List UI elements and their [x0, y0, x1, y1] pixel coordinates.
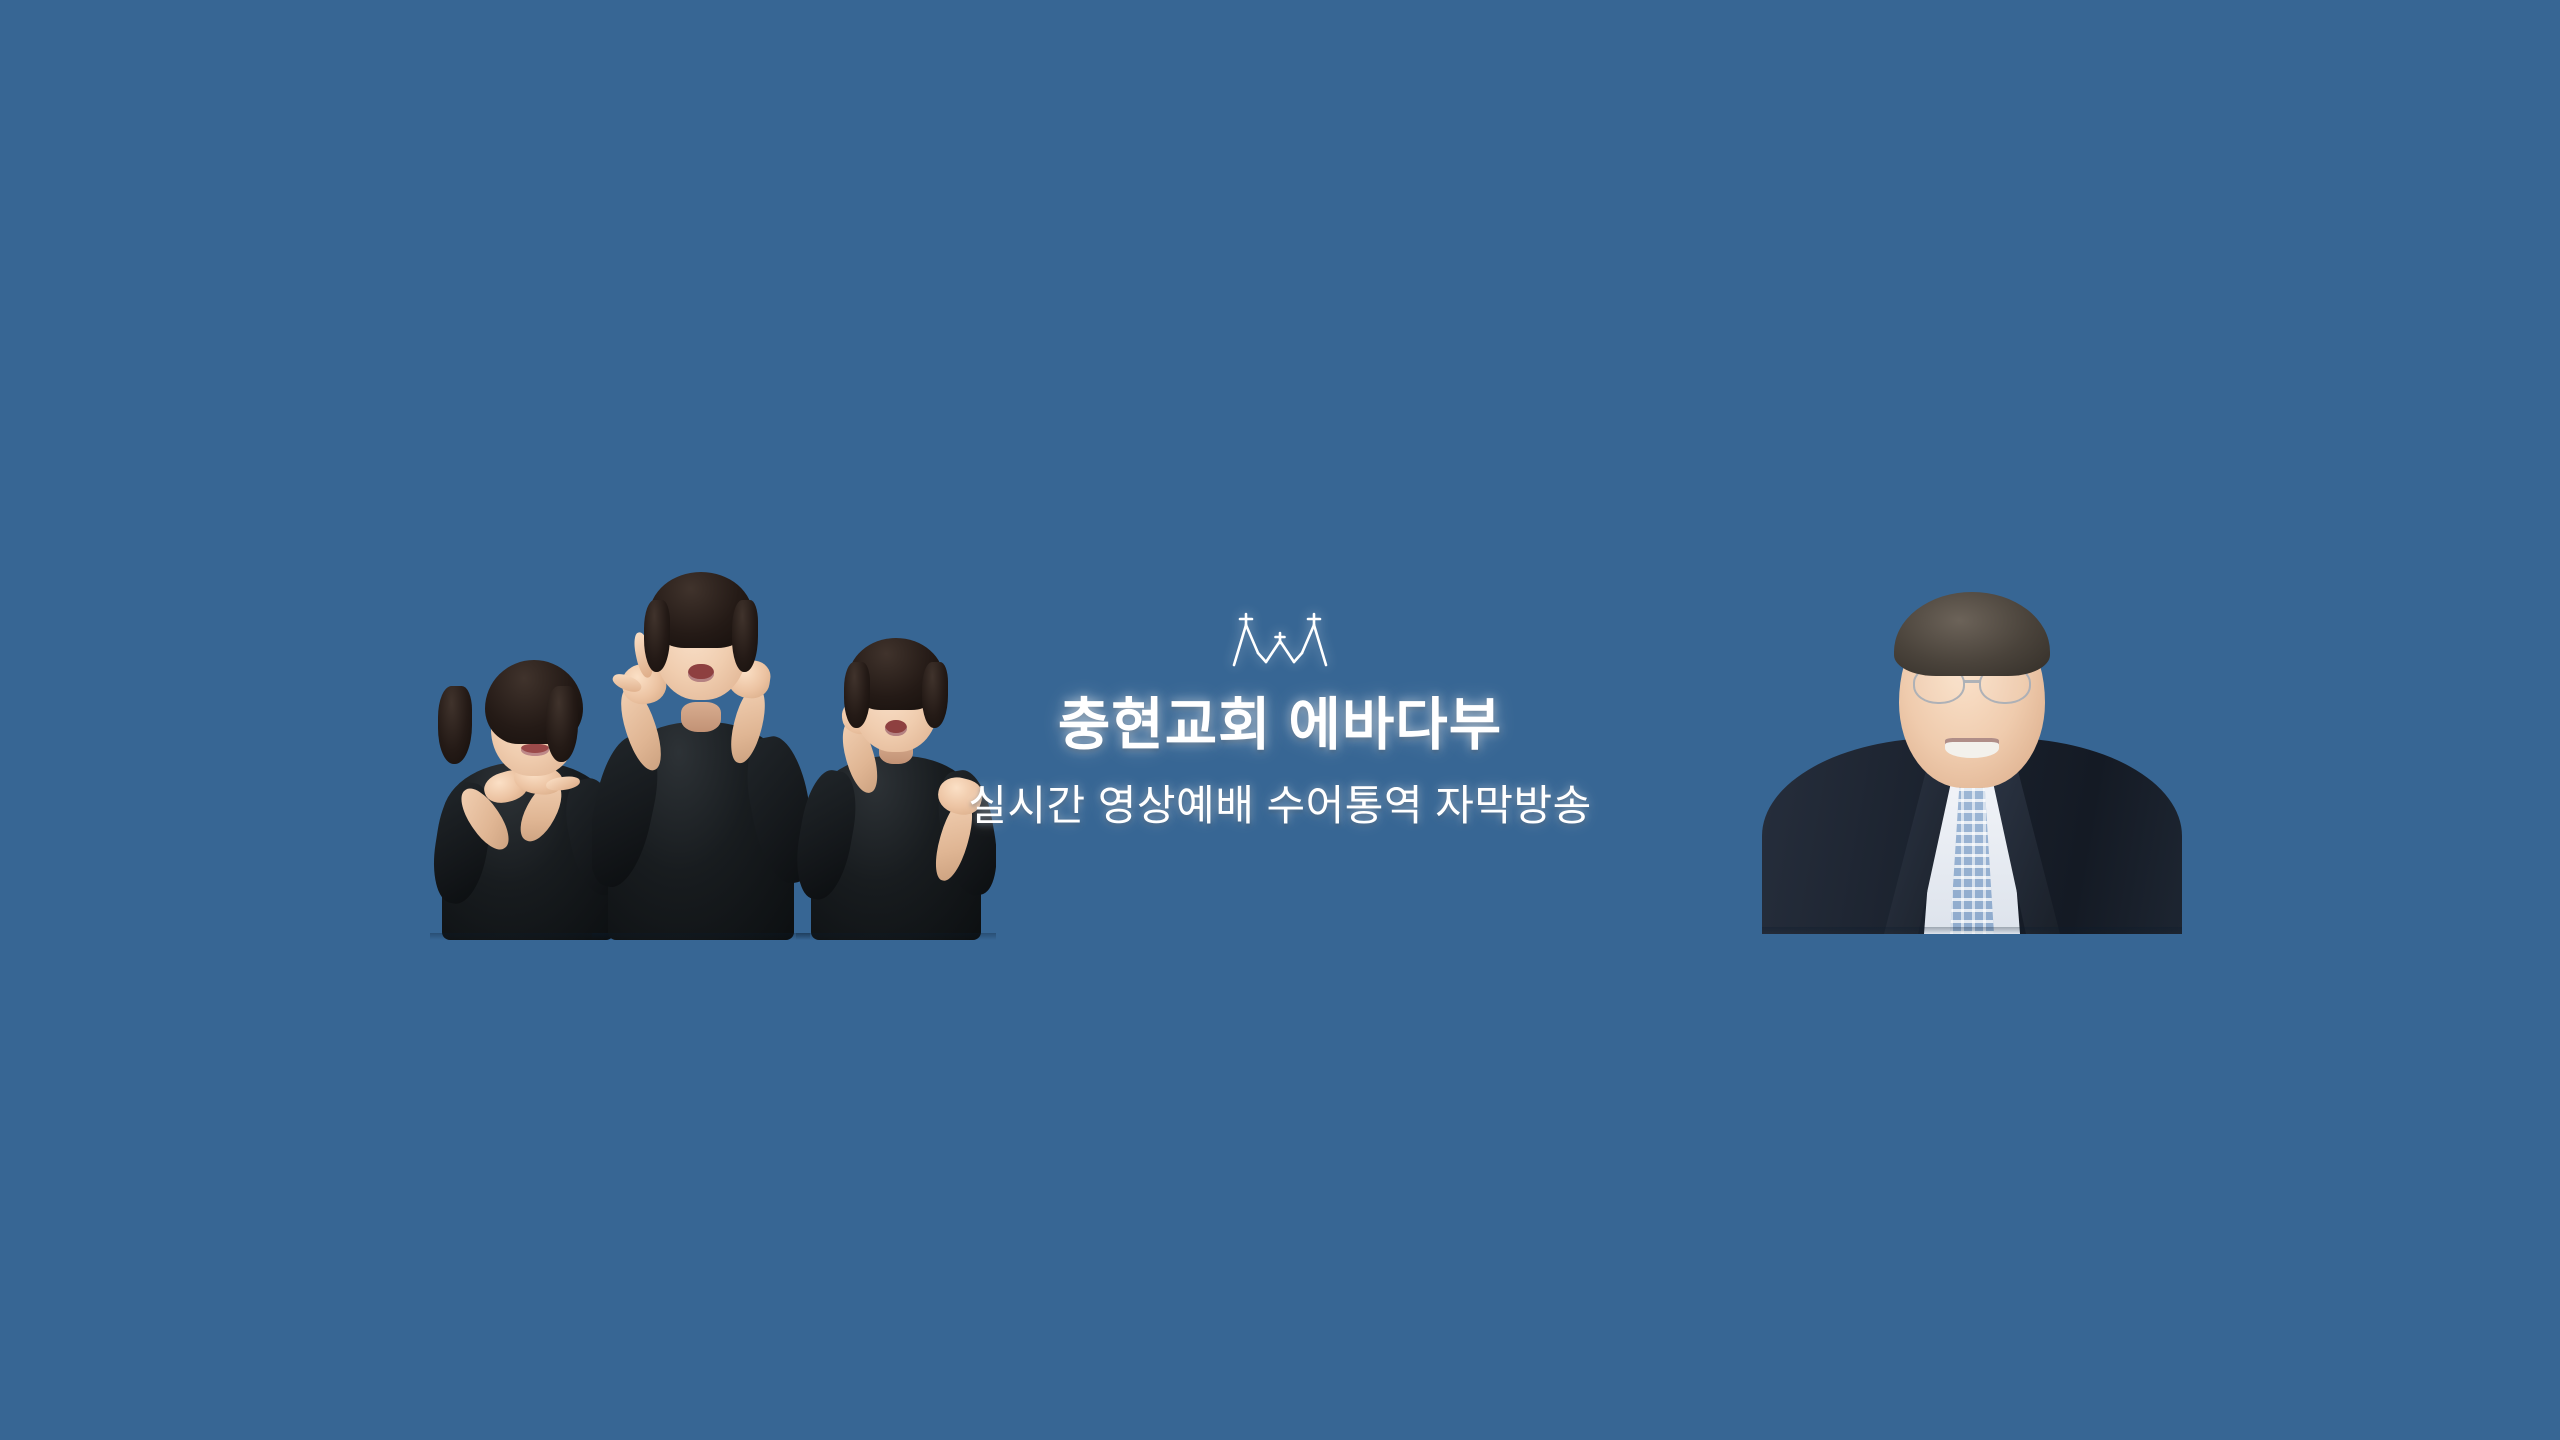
interpreter-right — [796, 618, 996, 940]
interpreter-left-mouth — [521, 744, 549, 756]
sign-language-interpreters-photo — [430, 560, 1060, 940]
interpreter-center-hair-side-r — [732, 600, 758, 672]
pastor-glasses-bridge — [1964, 680, 1980, 683]
page-title: 충현교회 에바다부 — [1058, 694, 1502, 758]
interpreter-center — [592, 562, 810, 940]
page-subtitle: 실시간 영상예배 수어통역 자막방송 — [968, 782, 1592, 830]
pastor-hair — [1894, 592, 2050, 676]
interpreter-center-mouth — [688, 664, 714, 682]
interpreter-right-hair-side-l — [844, 662, 870, 728]
interpreter-center-neck — [681, 702, 721, 732]
interpreter-right-hair-side-r — [922, 662, 948, 728]
interpreter-left-hair-side-r — [546, 686, 578, 762]
interpreter-center-hair-side-l — [644, 600, 670, 672]
pastor-portrait-photo — [1762, 588, 2182, 934]
pastor-smile — [1945, 738, 1999, 758]
church-three-crosses-icon — [1228, 610, 1332, 672]
interpreter-left-hair-side-l — [438, 686, 472, 764]
channel-banner: 충현교회 에바다부 실시간 영상예배 수어통역 자막방송 — [0, 0, 2560, 1440]
interpreter-right-mouth — [885, 720, 907, 736]
